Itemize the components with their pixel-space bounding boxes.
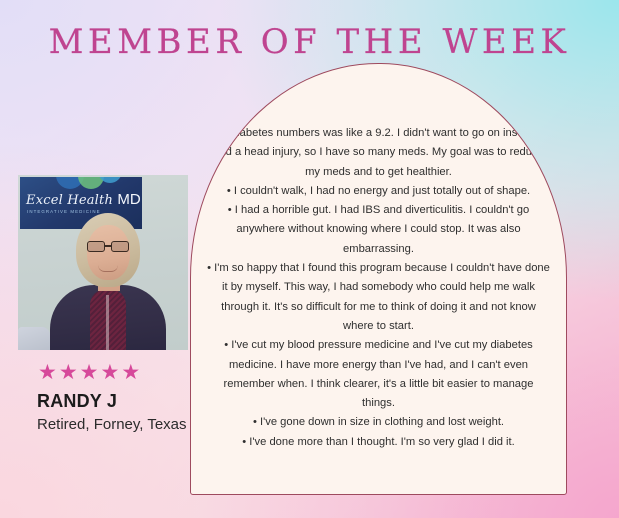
star-rating: ★★★★★ (38, 362, 140, 384)
testimonial-item: My diabetes numbers was like a 9.2. I di… (207, 124, 550, 182)
star-icon: ★ (38, 362, 57, 384)
star-icon: ★ (100, 362, 119, 384)
testimonial-arch-card: My diabetes numbers was like a 9.2. I di… (190, 63, 567, 495)
glasses-lens-left (87, 241, 105, 252)
eyeglasses-icon (86, 241, 131, 252)
member-photo: Excel Health MD INTEGRATIVE MEDICINE (18, 175, 188, 350)
testimonial-item: I've done more than I thought. I'm so ve… (207, 433, 550, 452)
page-title: MEMBER OF THE WEEK (0, 22, 619, 62)
member-name: RANDY J (37, 390, 117, 412)
clinic-sign-tagline: INTEGRATIVE MEDICINE (27, 209, 101, 215)
clinic-brand-suffix: MD (117, 191, 140, 208)
chair-shape (18, 327, 50, 350)
testimonial-item: I had a horrible gut. I had IBS and dive… (207, 201, 550, 259)
person-blouse-placket (106, 295, 109, 350)
testimonial-list: My diabetes numbers was like a 9.2. I di… (207, 124, 550, 452)
testimonial-item: I'm so happy that I found this program b… (207, 259, 550, 336)
testimonial-item: I've cut my blood pressure medicine and … (207, 336, 550, 413)
testimonial-item: I couldn't walk, I had no energy and jus… (207, 182, 550, 201)
member-role: Retired, Forney, Texas (37, 414, 187, 435)
testimonial-body: My diabetes numbers was like a 9.2. I di… (191, 64, 566, 494)
clinic-brand-text: Excel Health (26, 193, 113, 208)
star-icon: ★ (80, 362, 99, 384)
star-icon: ★ (121, 362, 140, 384)
member-of-the-week-poster: MEMBER OF THE WEEK My diabetes numbers w… (0, 0, 619, 518)
star-icon: ★ (59, 362, 78, 384)
testimonial-item: I've gone down in size in clothing and l… (207, 413, 550, 432)
clinic-sign-brand: Excel Health MD (26, 193, 141, 208)
glasses-lens-right (111, 241, 129, 252)
